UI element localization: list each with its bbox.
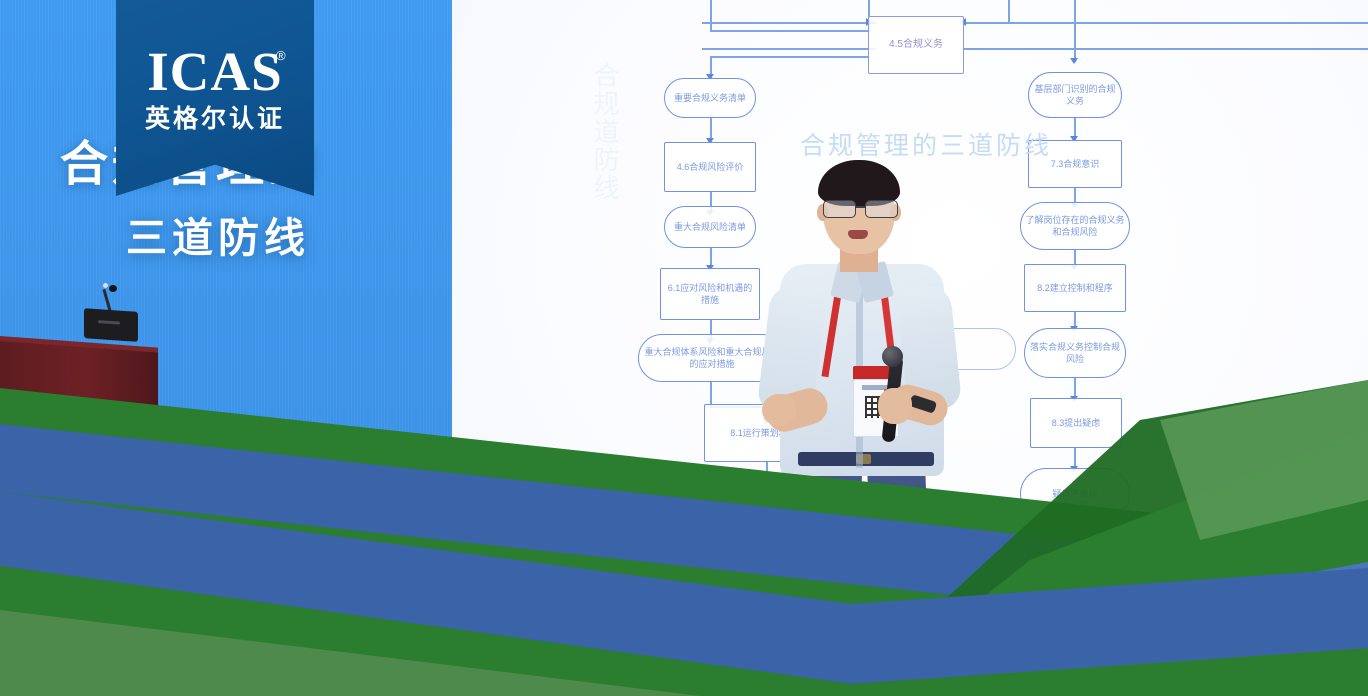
foreground-graphic	[0, 0, 1368, 696]
screenshot-stage: 合规道防线	[0, 0, 1368, 696]
